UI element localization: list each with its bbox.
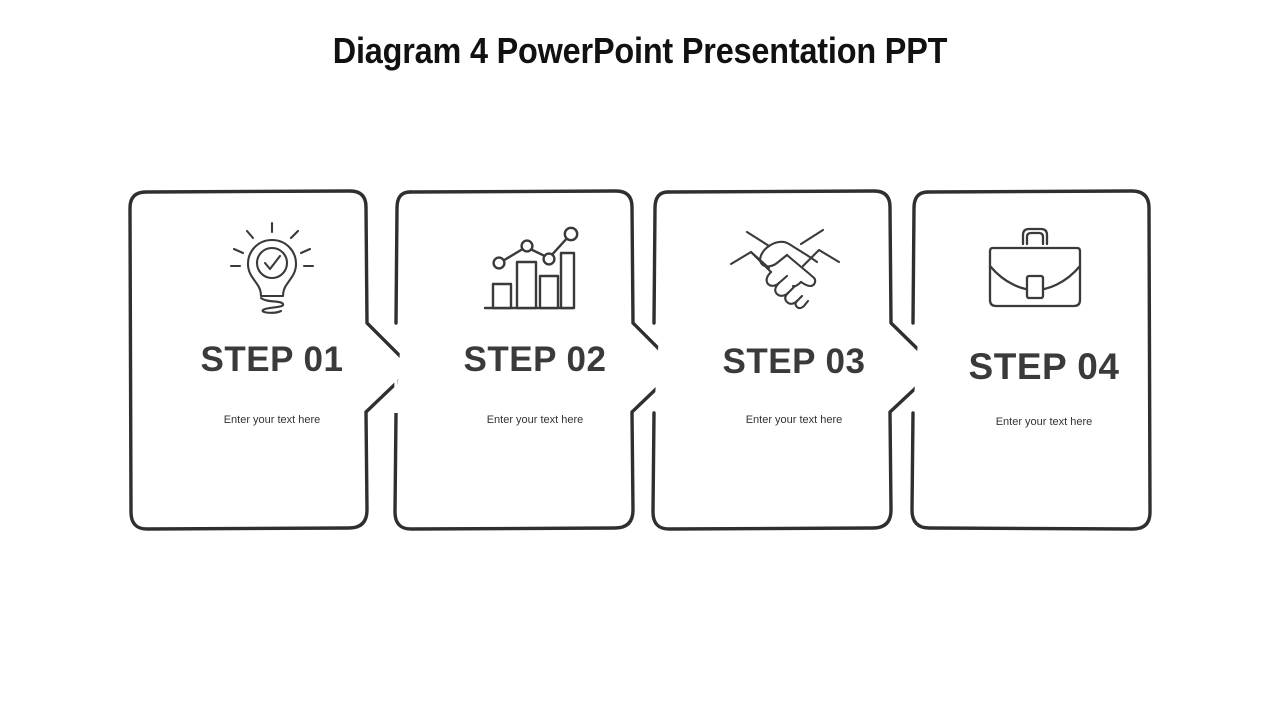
step-card-1-outline — [128, 188, 416, 532]
step-card-3[interactable]: STEP 03 Enter your text here — [648, 188, 940, 532]
slide-canvas: Diagram 4 PowerPoint Presentation PPT — [0, 0, 1280, 720]
step-card-2-outline — [390, 188, 680, 532]
step-card-1[interactable]: STEP 01 Enter your text here — [128, 188, 416, 532]
step-card-4-outline — [906, 188, 1154, 532]
step-card-2[interactable]: STEP 02 Enter your text here — [390, 188, 680, 532]
step-card-4[interactable]: STEP 04 Enter your text here — [906, 188, 1154, 532]
step-card-3-outline — [648, 188, 940, 532]
process-diagram: STEP 01 Enter your text here — [0, 0, 1280, 720]
